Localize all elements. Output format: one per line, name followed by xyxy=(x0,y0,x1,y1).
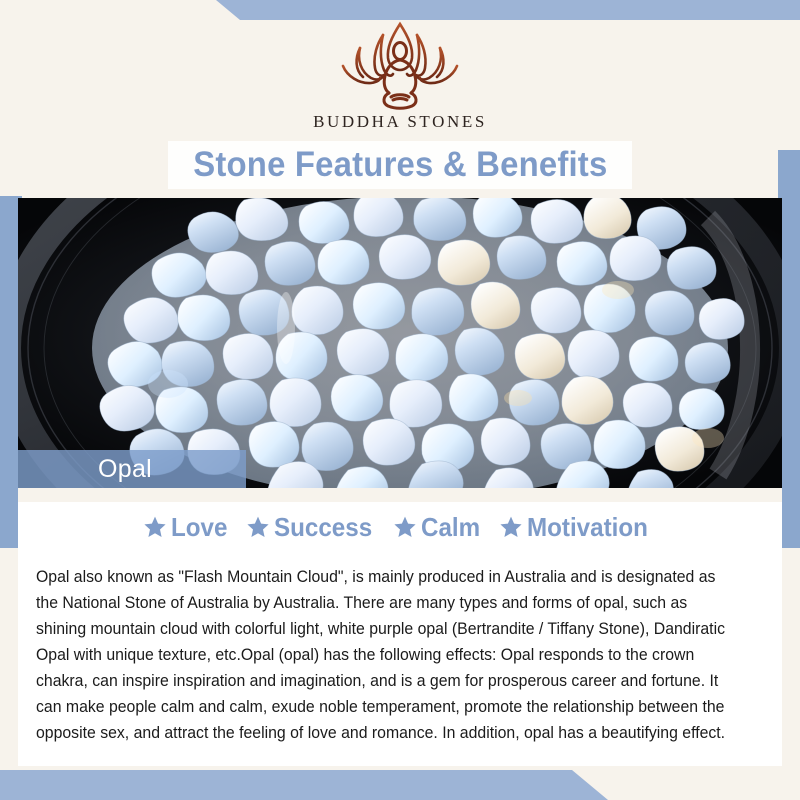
star-icon xyxy=(246,515,270,539)
description-text: Opal also known as "Flash Mountain Cloud… xyxy=(36,564,737,746)
benefit-item-motivation: Motivation xyxy=(499,514,657,540)
page-title: Stone Features & Benefits xyxy=(193,145,607,185)
brand-name: BUDDHA STONES xyxy=(313,112,487,132)
benefit-label: Love xyxy=(171,514,227,540)
panel-top-divider xyxy=(18,488,782,502)
bottom-accent-band-shape xyxy=(0,770,800,800)
photo-caption-label: Opal xyxy=(98,457,152,482)
benefit-label: Motivation xyxy=(527,514,648,540)
star-icon xyxy=(499,515,523,539)
content-panel: Love Success Calm Motivation O xyxy=(18,488,782,766)
brand-header: BUDDHA STONES xyxy=(0,18,800,148)
top-accent-band xyxy=(0,0,800,20)
top-accent-band-shape xyxy=(0,0,800,20)
benefit-item-calm: Calm xyxy=(393,514,485,540)
opal-stones-photograph xyxy=(18,198,782,488)
benefit-label: Success xyxy=(274,514,372,540)
benefits-row: Love Success Calm Motivation xyxy=(18,514,782,540)
title-banner: Stone Features & Benefits xyxy=(168,141,632,189)
product-photo xyxy=(18,198,782,488)
benefit-item-love: Love xyxy=(143,514,232,540)
star-icon xyxy=(143,515,167,539)
photo-caption-band: Opal xyxy=(18,450,246,488)
infographic-page: BUDDHA STONES Stone Features & Benefits xyxy=(0,0,800,800)
lotus-meditation-icon xyxy=(325,18,475,110)
benefit-label: Calm xyxy=(421,514,480,540)
star-icon xyxy=(393,515,417,539)
bottom-accent-band xyxy=(0,770,800,800)
benefit-item-success: Success xyxy=(246,514,380,540)
